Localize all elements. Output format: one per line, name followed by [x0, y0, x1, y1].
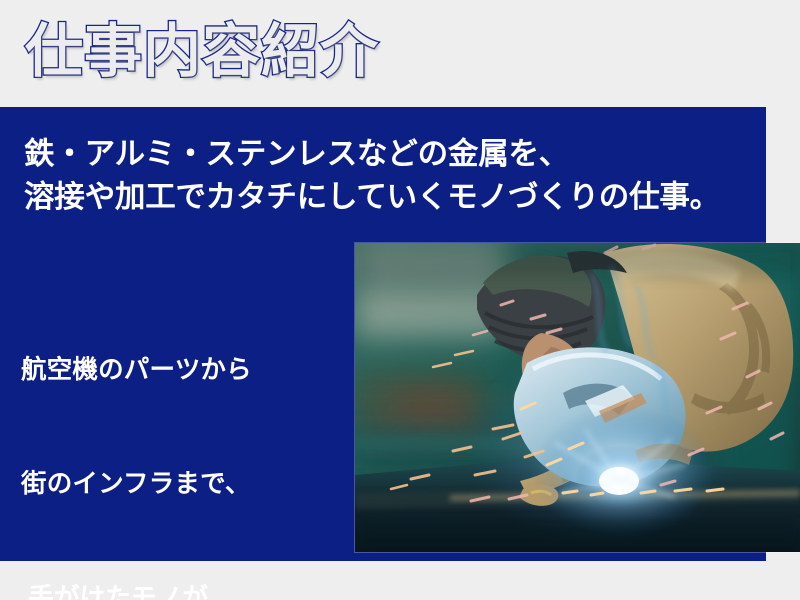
page-title: 仕事内容紹介 — [25, 16, 379, 89]
welder-photo-illustration — [355, 243, 800, 552]
body-copy-line-1: 航空機のパーツから — [21, 351, 354, 389]
headline-line-1: 鉄・アルミ・ステンレスなどの金属を、 — [24, 133, 720, 176]
welder-photo — [355, 243, 800, 552]
body-copy-block: 航空機のパーツから 街のインフラまで、 手がけたモノが 社会のどこかで生きていく… — [21, 275, 354, 600]
slide-root: 仕事内容紹介 鉄・アルミ・ステンレスなどの金属を、 溶接や加工でカタチにしていく… — [0, 0, 800, 600]
body-copy-line-3: 手がけたモノが — [21, 579, 354, 600]
body-copy-line-2: 街のインフラまで、 — [21, 465, 354, 503]
headline-block: 鉄・アルミ・ステンレスなどの金属を、 溶接や加工でカタチにしていくモノづくりの仕… — [24, 133, 720, 219]
headline-line-2: 溶接や加工でカタチにしていくモノづくりの仕事。 — [24, 176, 720, 219]
